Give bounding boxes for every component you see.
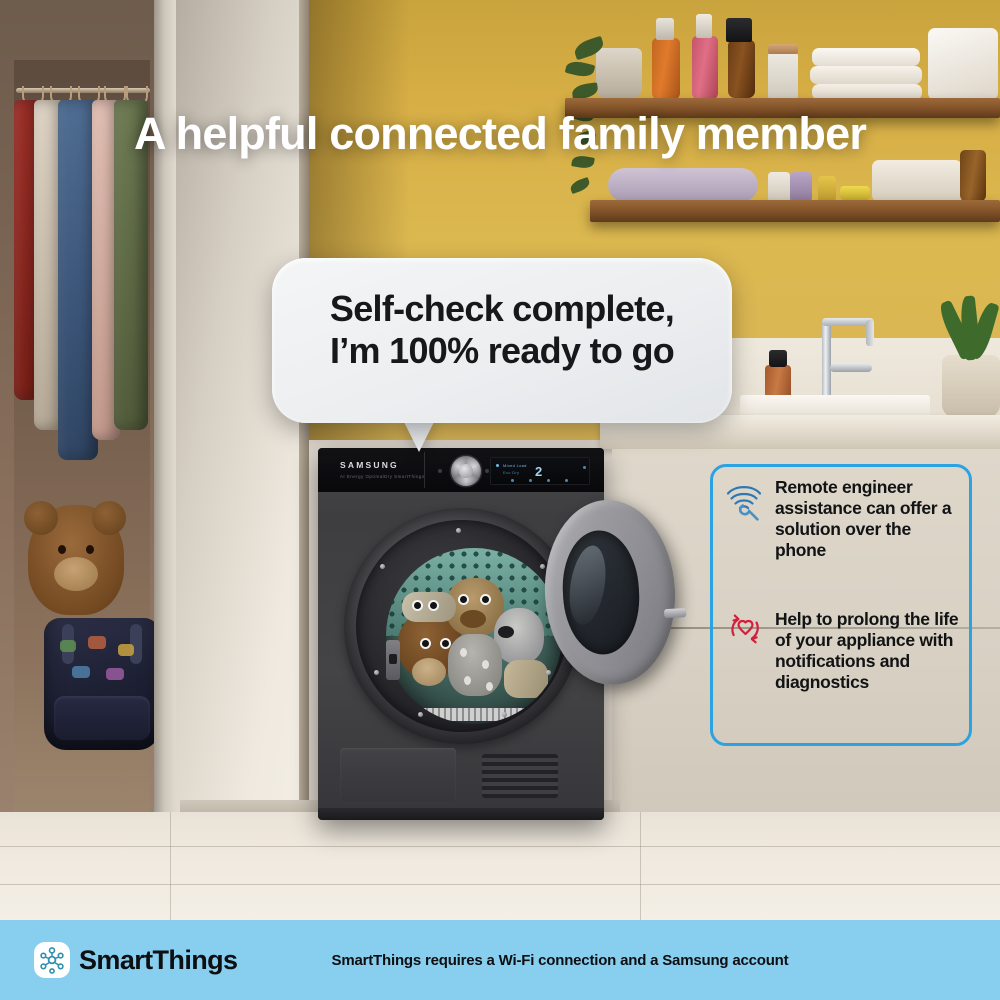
plush-grey-blanket bbox=[448, 634, 502, 696]
floor-tile-line bbox=[170, 812, 171, 920]
drum-screw bbox=[502, 712, 507, 717]
floor bbox=[0, 812, 1000, 920]
jar-lid bbox=[768, 44, 798, 54]
start-button[interactable] bbox=[485, 469, 489, 473]
promo-image: SAMSUNG AI Energy OptimalDry SmartThings… bbox=[0, 0, 1000, 1000]
panel-subtext: AI Energy OptimalDry SmartThings bbox=[340, 474, 425, 479]
plush-eye bbox=[422, 640, 429, 647]
footer-bar: SmartThings SmartThings requires a Wi-Fi… bbox=[0, 920, 1000, 1000]
plush-eye bbox=[460, 596, 467, 603]
backpack-print bbox=[60, 640, 76, 652]
soap-bar-flat bbox=[840, 186, 870, 200]
bear-ear bbox=[24, 501, 58, 535]
footer-disclaimer: SmartThings requires a Wi-Fi connection … bbox=[0, 952, 1000, 969]
page-title: A helpful connected family member bbox=[0, 110, 1000, 157]
plush-snout bbox=[412, 658, 446, 686]
door-glare bbox=[565, 543, 611, 627]
panel-divider bbox=[424, 452, 425, 488]
drum-screw bbox=[540, 564, 545, 569]
spray-trigger bbox=[656, 18, 674, 40]
lcd-icon bbox=[511, 479, 514, 482]
backpack-print bbox=[118, 644, 134, 656]
soap-bar-purple bbox=[790, 172, 812, 202]
lcd-indicator bbox=[496, 464, 499, 467]
lcd-value: 2 bbox=[535, 464, 542, 479]
backpack-print bbox=[106, 668, 124, 680]
drum-opening bbox=[344, 508, 580, 744]
bottle-amber bbox=[960, 150, 986, 202]
laundry-basket bbox=[928, 28, 998, 100]
bear-eye bbox=[58, 545, 66, 554]
soap-bar-yellow bbox=[818, 176, 836, 202]
floor-tile-line bbox=[0, 884, 1000, 885]
wifi-wrench-icon bbox=[725, 477, 765, 521]
drum-screw bbox=[546, 670, 551, 675]
jar-white bbox=[768, 52, 798, 100]
pump-top bbox=[696, 14, 712, 38]
drum-interior bbox=[386, 548, 562, 724]
bear-muzzle bbox=[54, 557, 98, 591]
plush-eye bbox=[430, 602, 437, 609]
faucet-spout bbox=[866, 320, 874, 346]
faucet-handle bbox=[830, 364, 872, 372]
rolled-towel-purple bbox=[608, 168, 758, 202]
speech-bubble-text: Self-check complete, I’m 100% ready to g… bbox=[272, 288, 732, 373]
speech-bubble: Self-check complete, I’m 100% ready to g… bbox=[272, 258, 732, 423]
base-strip bbox=[318, 808, 604, 820]
callout-remote-engineer-text: Remote engineer assistance can offer a s… bbox=[775, 477, 963, 561]
samsung-logo: SAMSUNG bbox=[340, 460, 399, 470]
program-dial[interactable] bbox=[451, 456, 481, 486]
floor-tile-line bbox=[640, 812, 641, 920]
backpack-print bbox=[72, 666, 90, 678]
bear-ear bbox=[92, 501, 126, 535]
plush-toy-corner bbox=[504, 660, 548, 698]
backpack-print bbox=[88, 636, 106, 649]
plush-bone-toy bbox=[402, 592, 456, 622]
paw-print bbox=[460, 648, 467, 657]
plush-nose bbox=[460, 610, 486, 628]
speech-line-2: I’m 100% ready to go bbox=[272, 330, 732, 372]
bottle-brown-spray bbox=[728, 40, 755, 98]
folded-towel bbox=[810, 66, 922, 84]
plush-eye bbox=[442, 640, 449, 647]
drum-screw bbox=[456, 528, 461, 533]
paw-print bbox=[482, 660, 489, 669]
door-latch[interactable] bbox=[386, 640, 400, 680]
lcd-subprogram: Eco Dry bbox=[503, 470, 519, 475]
heart-refresh-icon bbox=[725, 609, 765, 653]
lcd-indicator bbox=[583, 466, 586, 469]
small-box bbox=[768, 172, 790, 202]
folded-towel bbox=[812, 48, 920, 66]
callout-remote-engineer: Remote engineer assistance can offer a s… bbox=[713, 477, 975, 561]
plush-eye bbox=[414, 602, 421, 609]
bear-eye bbox=[86, 545, 94, 554]
callout-prolong-life: Help to prolong the life of your applian… bbox=[713, 609, 975, 693]
bottle-orange bbox=[652, 38, 680, 100]
control-panel[interactable]: SAMSUNG AI Energy OptimalDry SmartThings… bbox=[318, 448, 604, 492]
drum-screw bbox=[374, 670, 379, 675]
lint-filter-edge bbox=[422, 708, 528, 721]
floor-tile-line bbox=[0, 846, 1000, 847]
soap-pump bbox=[769, 350, 787, 367]
door-window bbox=[560, 529, 642, 657]
shelf-lower bbox=[590, 200, 1000, 222]
power-button[interactable] bbox=[438, 469, 442, 473]
door-hinge bbox=[664, 608, 686, 618]
lcd-display: Mixed Load Eco Dry 2 bbox=[490, 457, 590, 485]
spray-trigger-black bbox=[726, 18, 752, 42]
dial-center bbox=[459, 464, 473, 478]
lcd-icon bbox=[547, 479, 550, 482]
lcd-icon bbox=[565, 479, 568, 482]
lcd-icon bbox=[529, 479, 532, 482]
plant-right bbox=[942, 355, 1000, 417]
backpack bbox=[44, 618, 160, 750]
callout-prolong-life-text: Help to prolong the life of your applian… bbox=[775, 609, 963, 693]
plush-nose-grey bbox=[498, 626, 514, 638]
bottle-pink bbox=[692, 36, 718, 100]
drum-screw bbox=[380, 564, 385, 569]
storage-tin bbox=[872, 160, 962, 202]
paw-print bbox=[486, 682, 493, 691]
drum-screw bbox=[418, 712, 423, 717]
feature-callout-box: Remote engineer assistance can offer a s… bbox=[710, 464, 972, 746]
plant-pot bbox=[596, 48, 642, 98]
paw-print bbox=[464, 676, 471, 685]
plush-eye bbox=[482, 596, 489, 603]
lcd-program: Mixed Load bbox=[503, 463, 527, 468]
lint-filter-drawer[interactable] bbox=[340, 748, 456, 802]
vent-grille bbox=[482, 754, 558, 798]
speech-line-1: Self-check complete, bbox=[272, 288, 732, 330]
latch-keeper bbox=[389, 654, 397, 664]
drum-bezel bbox=[356, 520, 568, 732]
teddy-bear bbox=[28, 505, 124, 615]
backpack-pocket bbox=[54, 696, 150, 740]
